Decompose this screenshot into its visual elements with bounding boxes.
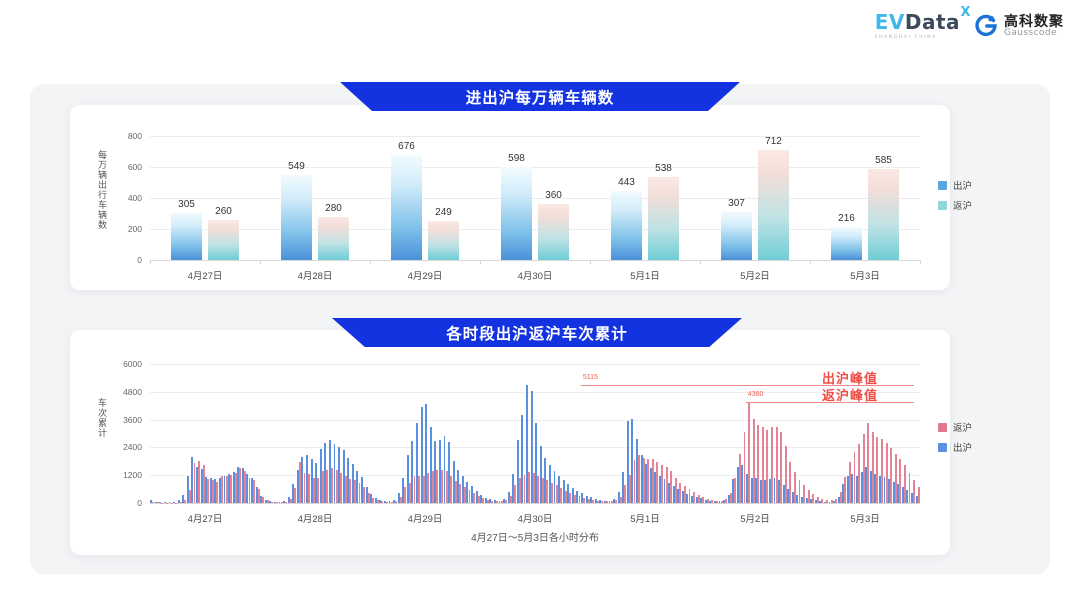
gausscode-en: Gausscode (1004, 29, 1064, 38)
chart1-xtick-mark (920, 260, 921, 264)
chart2-legend-label: 出沪 (953, 440, 972, 454)
chart2-xtick-4月30日: 4月30日 (518, 511, 553, 525)
chart1-value-label: 538 (655, 163, 672, 174)
chart1-gridline (150, 136, 920, 137)
chart1-legend: 出沪返沪 (938, 178, 972, 218)
chart1-value-label: 260 (215, 206, 232, 217)
chart1-bar-返沪-5月1日 (648, 177, 679, 260)
chart2-xtick-5月2日: 5月2日 (740, 511, 770, 525)
chart1-bar-返沪-5月2日 (758, 150, 789, 260)
evdata-wordmark: EVDataX (875, 12, 960, 32)
chart1-bar-出沪-4月28日 (281, 175, 312, 260)
chart2-xtick-5月1日: 5月1日 (630, 511, 660, 525)
brand-logos: EVDataX SHANGHAI CHINA 高科数聚 Gausscode (875, 12, 1064, 40)
chart1-value-label: 585 (875, 155, 892, 166)
chart1-ytick-0: 0 (108, 255, 142, 265)
chart2-ytick-4800: 4800 (108, 387, 142, 397)
chart1-xtick-mark (370, 260, 371, 264)
chart2-xtick-4月27日: 4月27日 (188, 511, 223, 525)
chart1-value-label: 280 (325, 203, 342, 214)
gausscode-logo: 高科数聚 Gausscode (974, 14, 1064, 38)
chart2-legend-swatch-返沪 (938, 423, 947, 432)
chart1-value-label: 598 (508, 153, 525, 164)
chart1-bar-返沪-4月30日 (538, 204, 569, 260)
chart1-xtick-5月2日: 5月2日 (740, 268, 770, 282)
chart1-bar-出沪-4月29日 (391, 155, 422, 260)
chart1-ytick-400: 400 (108, 193, 142, 203)
chart1-legend-item-返沪[interactable]: 返沪 (938, 198, 972, 212)
chart1-legend-swatch-出沪 (938, 181, 947, 190)
chart1-gridline (150, 229, 920, 230)
chart2-gridline (150, 364, 920, 365)
evdata-data-text: Data (905, 10, 960, 34)
chart2-gridline (150, 420, 920, 421)
evdata-subtitle: SHANGHAI CHINA (875, 35, 937, 40)
chart2-peak-value-out: 5115 (583, 374, 598, 381)
chart1-y-axis-label: 每万辆出行车辆数 (96, 150, 109, 250)
chart1-ytick-200: 200 (108, 224, 142, 234)
chart1-bar-出沪-4月27日 (171, 213, 202, 260)
chart1-bar-出沪-4月30日 (501, 167, 532, 260)
chart1-xtick-mark (260, 260, 261, 264)
chart1-ytick-600: 600 (108, 162, 142, 172)
chart1-xtick-4月27日: 4月27日 (188, 268, 223, 282)
chart2-ytick-0: 0 (108, 498, 142, 508)
chart2-ytick-2400: 2400 (108, 442, 142, 452)
chart-title-banner-daily: 进出沪每万辆车辆数 (340, 82, 740, 111)
chart1-xtick-5月3日: 5月3日 (850, 268, 880, 282)
chart2-bar-ret (918, 487, 920, 503)
chart2-x-axis-caption: 4月27日～5月3日各小时分布 (471, 529, 599, 544)
chart1-bar-返沪-4月27日 (208, 220, 239, 260)
evdata-x-icon: X (960, 6, 971, 19)
chart1-gridline (150, 260, 920, 261)
chart2-ytick-6000: 6000 (108, 359, 142, 369)
chart2-gridline (150, 503, 920, 504)
chart1-bar-出沪-5月1日 (611, 191, 642, 260)
chart1-value-label: 360 (545, 190, 562, 201)
chart2-legend-item-返沪[interactable]: 返沪 (938, 420, 972, 434)
chart1-value-label: 443 (618, 177, 635, 188)
chart1-xtick-mark (150, 260, 151, 264)
chart1-legend-item-出沪[interactable]: 出沪 (938, 178, 972, 192)
chart2-ytick-3600: 3600 (108, 415, 142, 425)
chart1-legend-label: 返沪 (953, 198, 972, 212)
chart2-peak-value-ret: 4360 (748, 391, 764, 398)
chart2-legend: 返沪出沪 (938, 420, 972, 460)
chart1-bar-返沪-5月3日 (868, 169, 899, 260)
evdata-ev-text: EV (875, 10, 905, 34)
chart1-value-label: 216 (838, 213, 855, 224)
chart1-bar-返沪-4月28日 (318, 217, 349, 260)
chart1-gridline (150, 167, 920, 168)
chart2-legend-label: 返沪 (953, 420, 972, 434)
chart1-bar-出沪-5月2日 (721, 212, 752, 260)
chart2-xtick-5月3日: 5月3日 (850, 511, 880, 525)
evdata-logo: EVDataX SHANGHAI CHINA (875, 12, 960, 40)
chart2-xtick-4月28日: 4月28日 (298, 511, 333, 525)
chart2-peak-label-out: 出沪峰值 (822, 368, 878, 387)
chart1-value-label: 307 (728, 198, 745, 209)
chart1-gridline (150, 198, 920, 199)
chart1-xtick-4月30日: 4月30日 (518, 268, 553, 282)
chart2-legend-item-出沪[interactable]: 出沪 (938, 440, 972, 454)
chart1-xtick-4月28日: 4月28日 (298, 268, 333, 282)
chart1-value-label: 712 (765, 136, 782, 147)
chart2-xtick-4月29日: 4月29日 (408, 511, 443, 525)
chart1-xtick-5月1日: 5月1日 (630, 268, 660, 282)
gausscode-text: 高科数聚 Gausscode (1004, 14, 1064, 38)
chart1-value-label: 549 (288, 161, 305, 172)
chart1-ytick-800: 800 (108, 131, 142, 141)
chart2-legend-swatch-出沪 (938, 443, 947, 452)
chart1-value-label: 305 (178, 199, 195, 210)
chart1-legend-label: 出沪 (953, 178, 972, 192)
chart-title-banner-hourly: 各时段出沪返沪车次累计 (332, 318, 742, 347)
chart1-xtick-4月29日: 4月29日 (408, 268, 443, 282)
chart1-xtick-mark (480, 260, 481, 264)
gausscode-mark-icon (974, 14, 998, 38)
chart2-peak-label-ret: 返沪峰值 (822, 385, 878, 404)
chart1-value-label: 249 (435, 207, 452, 218)
chart2-gridline (150, 392, 920, 393)
chart1-xtick-mark (590, 260, 591, 264)
chart1-bar-出沪-5月3日 (831, 227, 862, 260)
chart1-xtick-mark (700, 260, 701, 264)
page-header: EVDataX SHANGHAI CHINA 高科数聚 Gausscode (0, 0, 1080, 58)
chart1-xtick-mark (810, 260, 811, 264)
chart1-bar-返沪-4月29日 (428, 221, 459, 260)
chart2-y-axis-label: 车次累计 (96, 398, 109, 458)
gausscode-cn: 高科数聚 (1004, 14, 1064, 29)
chart1-legend-swatch-返沪 (938, 201, 947, 210)
chart1-value-label: 676 (398, 141, 415, 152)
chart2-ytick-1200: 1200 (108, 470, 142, 480)
